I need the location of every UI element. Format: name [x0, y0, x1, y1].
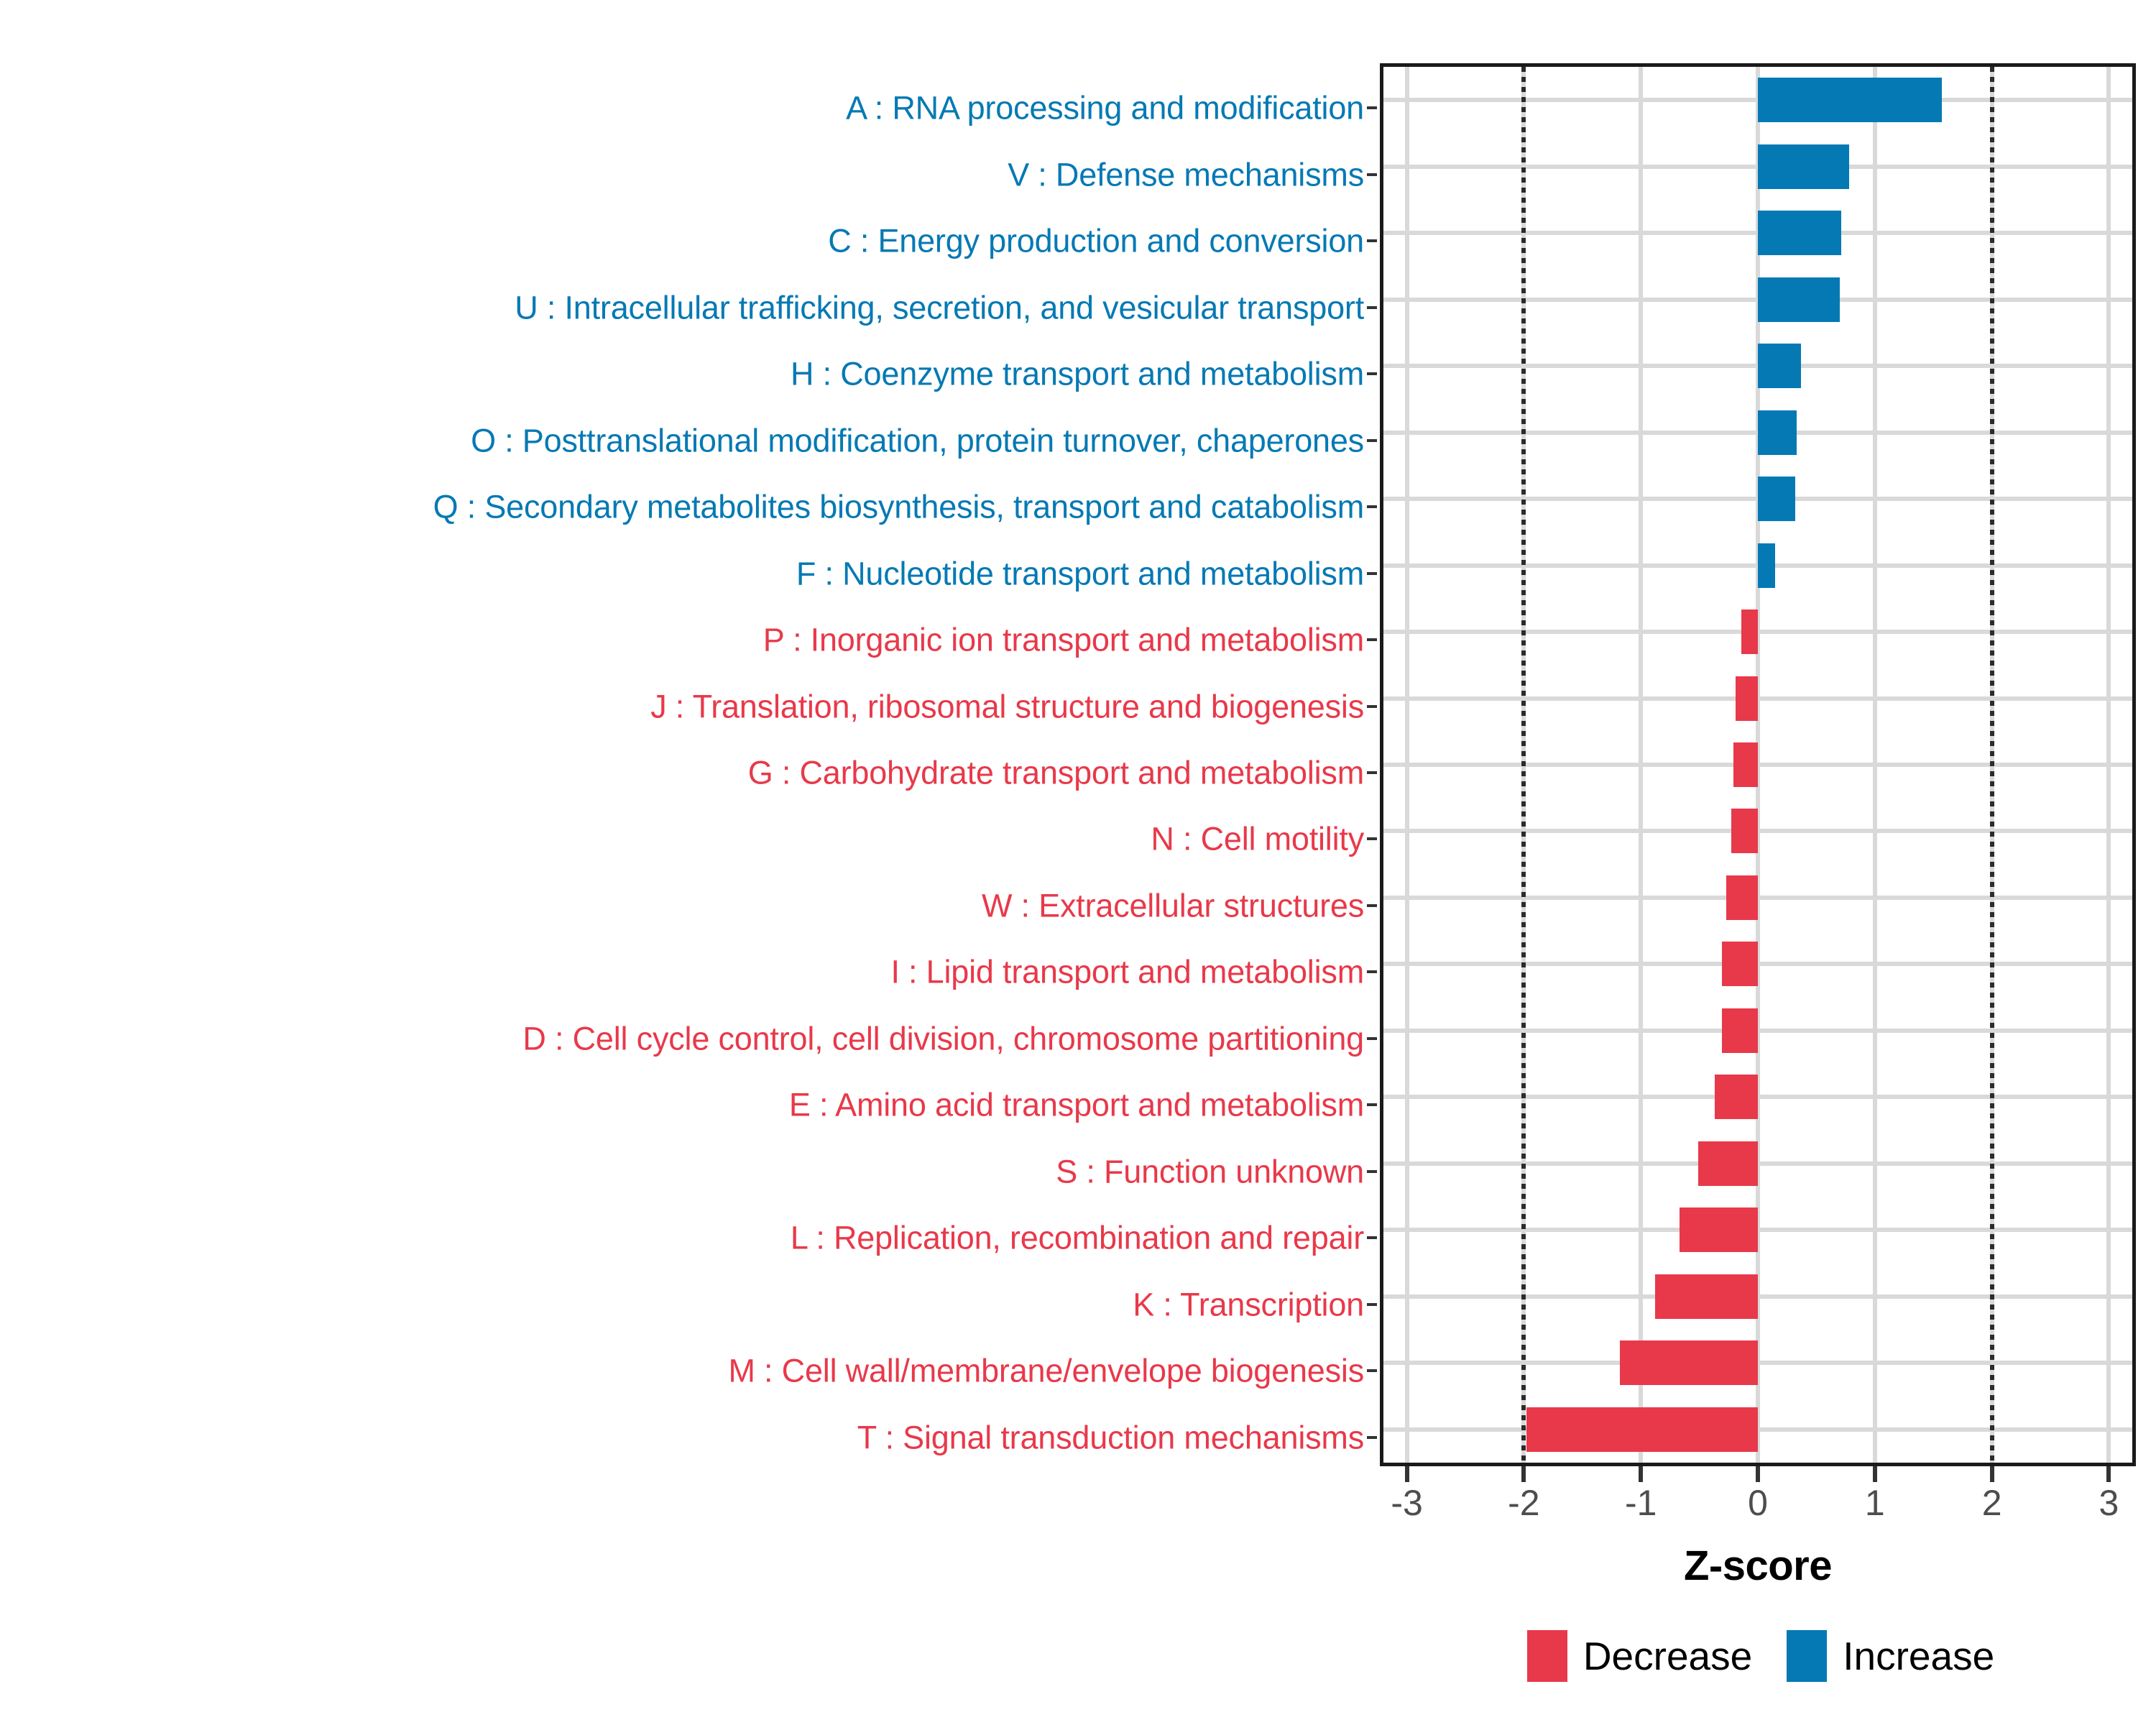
x-axis-tick-mark [1873, 1466, 1877, 1482]
bar [1758, 277, 1840, 322]
horizontal-gridline [1383, 1029, 2132, 1033]
horizontal-gridline [1383, 763, 2132, 767]
horizontal-gridline [1383, 896, 2132, 900]
category-label: L : Replication, recombination and repai… [791, 1222, 1364, 1254]
category-label: H : Coenzyme transport and metabolism [791, 358, 1364, 390]
category-label: N : Cell motility [1151, 823, 1364, 855]
bar [1758, 78, 1942, 122]
bar [1655, 1274, 1758, 1319]
bar [1620, 1340, 1758, 1385]
bar [1736, 676, 1758, 721]
category-label: O : Posttranslational modification, prot… [471, 424, 1364, 456]
plot-panel [1380, 63, 2136, 1466]
bar [1526, 1407, 1758, 1452]
x-axis-tick-label: 2 [1982, 1485, 2002, 1521]
x-axis-tick-mark [1521, 1466, 1526, 1482]
x-axis-tick-mark [2106, 1466, 2111, 1482]
reference-line [1521, 67, 1526, 1463]
x-axis-tick-mark [1405, 1466, 1409, 1482]
x-axis-tick-mark [1990, 1466, 1994, 1482]
category-label: P : Inorganic ion transport and metaboli… [763, 624, 1364, 656]
cog-zscore-chart: A : RNA processing and modificationV : D… [0, 0, 2156, 1725]
horizontal-gridline [1383, 1427, 2132, 1432]
category-axis-tick [1367, 970, 1377, 973]
category-label: I : Lipid transport and metabolism [890, 956, 1364, 988]
horizontal-gridline [1383, 696, 2132, 701]
bar [1731, 809, 1758, 853]
x-axis-tick-label: 1 [1865, 1485, 1885, 1521]
horizontal-gridline [1383, 1361, 2132, 1365]
category-axis-tick [1367, 904, 1377, 907]
category-label: D : Cell cycle control, cell division, c… [522, 1022, 1364, 1054]
category-label: W : Extracellular structures [982, 889, 1364, 921]
horizontal-gridline [1383, 829, 2132, 833]
x-axis-title: Z-score [1380, 1542, 2136, 1590]
category-axis-tick [1367, 239, 1377, 242]
legend-label: Increase [1843, 1637, 1994, 1676]
category-axis-tick [1367, 705, 1377, 708]
reference-line [1990, 67, 1994, 1463]
x-axis-tick-label: -3 [1391, 1485, 1422, 1521]
category-label: F : Nucleotide transport and metabolism [796, 557, 1364, 589]
category-axis-tick [1367, 1103, 1377, 1106]
category-axis-tick [1367, 372, 1377, 375]
category-label: K : Transcription [1133, 1288, 1364, 1320]
legend-label: Decrease [1583, 1637, 1752, 1676]
bar [1715, 1075, 1758, 1119]
category-axis-tick [1367, 439, 1377, 442]
category-axis-tick [1367, 505, 1377, 508]
bar [1733, 742, 1758, 787]
legend-swatch-icon [1527, 1630, 1567, 1682]
legend-item[interactable]: Increase [1787, 1630, 1994, 1682]
category-label: U : Intracellular trafficking, secretion… [515, 291, 1364, 323]
bar [1722, 1008, 1758, 1053]
category-label: Q : Secondary metabolites biosynthesis, … [433, 491, 1364, 523]
category-axis-tick [1367, 1369, 1377, 1372]
bar [1758, 543, 1775, 588]
bar [1741, 609, 1758, 654]
category-label: S : Function unknown [1056, 1155, 1364, 1187]
category-label: M : Cell wall/membrane/envelope biogenes… [728, 1355, 1364, 1387]
bar [1726, 875, 1758, 920]
bar [1722, 942, 1758, 986]
category-axis-tick [1367, 1170, 1377, 1173]
x-axis-tick-mark [1639, 1466, 1643, 1482]
category-axis-tick [1367, 106, 1377, 109]
category-axis-tick [1367, 837, 1377, 840]
chart-legend: DecreaseIncrease [1380, 1630, 2142, 1682]
bar [1758, 344, 1801, 388]
legend-swatch-icon [1787, 1630, 1827, 1682]
horizontal-gridline [1383, 1161, 2132, 1166]
category-label: G : Carbohydrate transport and metabolis… [748, 757, 1364, 789]
x-axis-tick-label: -2 [1508, 1485, 1539, 1521]
x-axis-tick-label: 3 [2099, 1485, 2119, 1521]
horizontal-gridline [1383, 1294, 2132, 1299]
x-axis-tick-label: 0 [1748, 1485, 1768, 1521]
category-axis-tick [1367, 771, 1377, 774]
x-axis: -3-2-10123 [1380, 1466, 2136, 1552]
category-label: C : Energy production and conversion [828, 225, 1364, 257]
bar [1758, 477, 1795, 521]
category-label-column: A : RNA processing and modificationV : D… [0, 75, 1380, 1455]
category-axis-tick [1367, 306, 1377, 309]
horizontal-gridline [1383, 962, 2132, 966]
category-label: A : RNA processing and modification [846, 92, 1364, 124]
bar [1758, 211, 1841, 255]
bar [1758, 410, 1797, 455]
category-axis-tick [1367, 1303, 1377, 1306]
horizontal-gridline [1383, 1095, 2132, 1099]
horizontal-gridline [1383, 630, 2132, 634]
category-axis-tick [1367, 638, 1377, 641]
category-label: J : Translation, ribosomal structure and… [650, 690, 1364, 722]
x-axis-tick-label: -1 [1625, 1485, 1657, 1521]
category-axis-tick [1367, 1436, 1377, 1439]
category-axis-tick [1367, 173, 1377, 176]
horizontal-gridline [1383, 1228, 2132, 1232]
bar [1680, 1207, 1758, 1252]
category-label: E : Amino acid transport and metabolism [789, 1089, 1364, 1121]
category-axis-tick [1367, 1037, 1377, 1040]
legend-item[interactable]: Decrease [1527, 1630, 1752, 1682]
bar [1758, 144, 1849, 189]
bar [1698, 1141, 1758, 1186]
x-axis-tick-mark [1756, 1466, 1760, 1482]
category-label: T : Signal transduction mechanisms [857, 1421, 1364, 1453]
category-label: V : Defense mechanisms [1008, 158, 1364, 190]
category-axis-tick [1367, 1236, 1377, 1239]
category-axis-tick [1367, 572, 1377, 575]
